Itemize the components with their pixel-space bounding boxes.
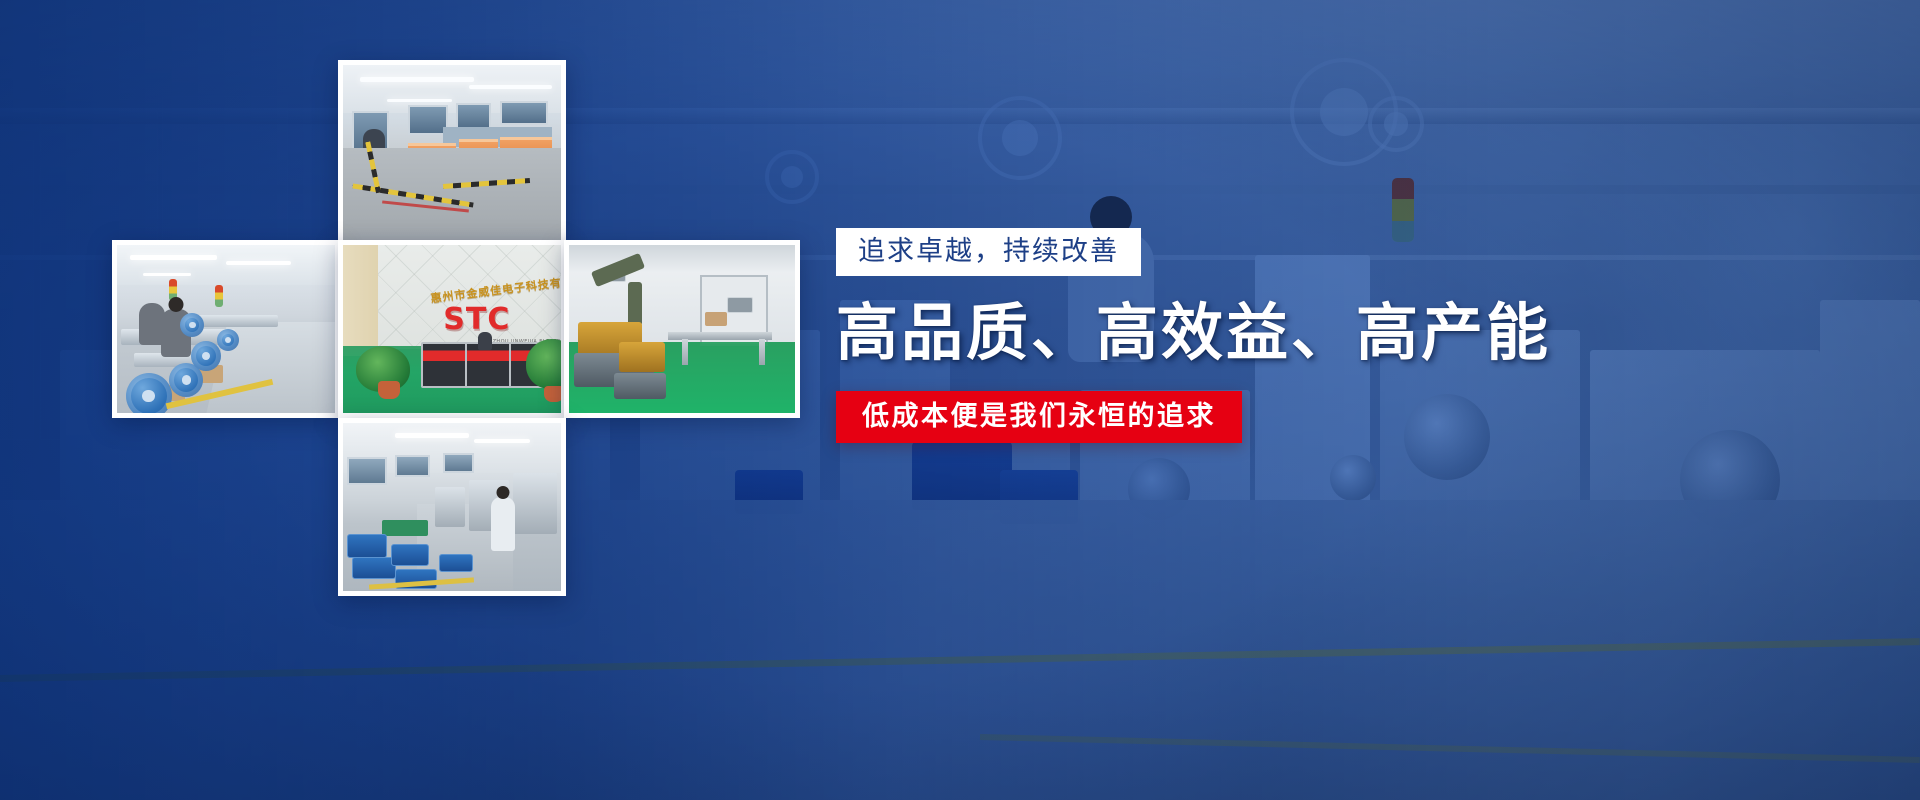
red-slogan-bar: 低成本便是我们永恒的追求 bbox=[836, 391, 1242, 443]
collage-photo-top[interactable] bbox=[338, 60, 566, 245]
collage-photo-bottom[interactable] bbox=[338, 418, 566, 596]
hero-banner: 惠州市金威佳电子科技有限公司 STC HUIZHOU JINWEIJIA ELE… bbox=[0, 0, 1920, 800]
collage-photo-right[interactable] bbox=[564, 240, 800, 418]
photo-scene-reception: 惠州市金威佳电子科技有限公司 STC HUIZHOU JINWEIJIA ELE… bbox=[343, 245, 561, 413]
photo-collage: 惠州市金威佳电子科技有限公司 STC HUIZHOU JINWEIJIA ELE… bbox=[0, 0, 820, 800]
collage-photo-left[interactable] bbox=[112, 240, 340, 418]
photo-scene-packing bbox=[343, 423, 561, 591]
hero-copy: 追求卓越，持续改善 高品质、高效益、高产能 低成本便是我们永恒的追求 bbox=[836, 228, 1636, 443]
photo-scene-office bbox=[343, 65, 561, 240]
stc-logo: STC bbox=[443, 305, 510, 335]
tagline: 追求卓越，持续改善 bbox=[836, 228, 1141, 276]
headline: 高品质、高效益、高产能 bbox=[836, 298, 1636, 367]
collage-photo-center[interactable]: 惠州市金威佳电子科技有限公司 STC HUIZHOU JINWEIJIA ELE… bbox=[338, 240, 566, 418]
photo-scene-machine-room bbox=[569, 245, 795, 413]
photo-scene-assembly bbox=[117, 245, 335, 413]
